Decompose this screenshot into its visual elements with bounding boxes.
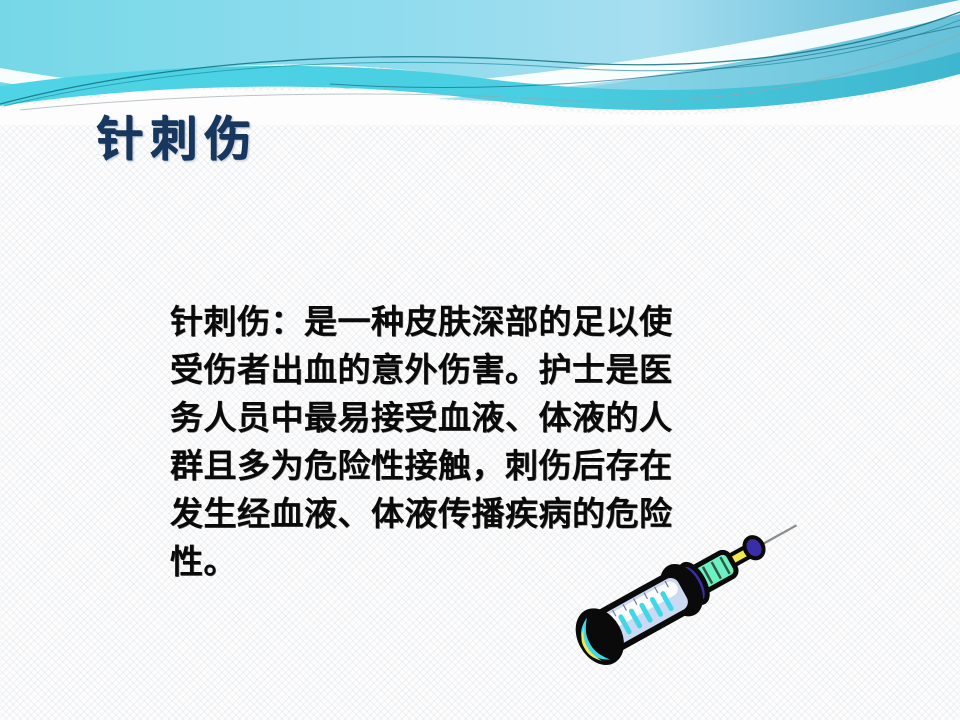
body-line: 群且多为危险性接触，刺伤后存在 [170,442,815,490]
wave-banner-header [0,0,960,120]
body-line: 性。 [170,538,815,586]
presentation-slide: 针刺伤 针刺伤：是一种皮肤深部的足以使 受伤者出血的意外伤害。护士是医 务人员中… [0,0,960,720]
body-line: 发生经血液、体液传播疾病的危险 [170,490,815,538]
page-title: 针刺伤 [96,113,258,167]
body-line: 务人员中最易接受血液、体液的人 [170,394,815,442]
body-paragraph: 针刺伤：是一种皮肤深部的足以使 受伤者出血的意外伤害。护士是医 务人员中最易接受… [170,298,815,586]
body-line: 针刺伤：是一种皮肤深部的足以使 [170,298,815,346]
body-line: 受伤者出血的意外伤害。护士是医 [170,346,815,394]
